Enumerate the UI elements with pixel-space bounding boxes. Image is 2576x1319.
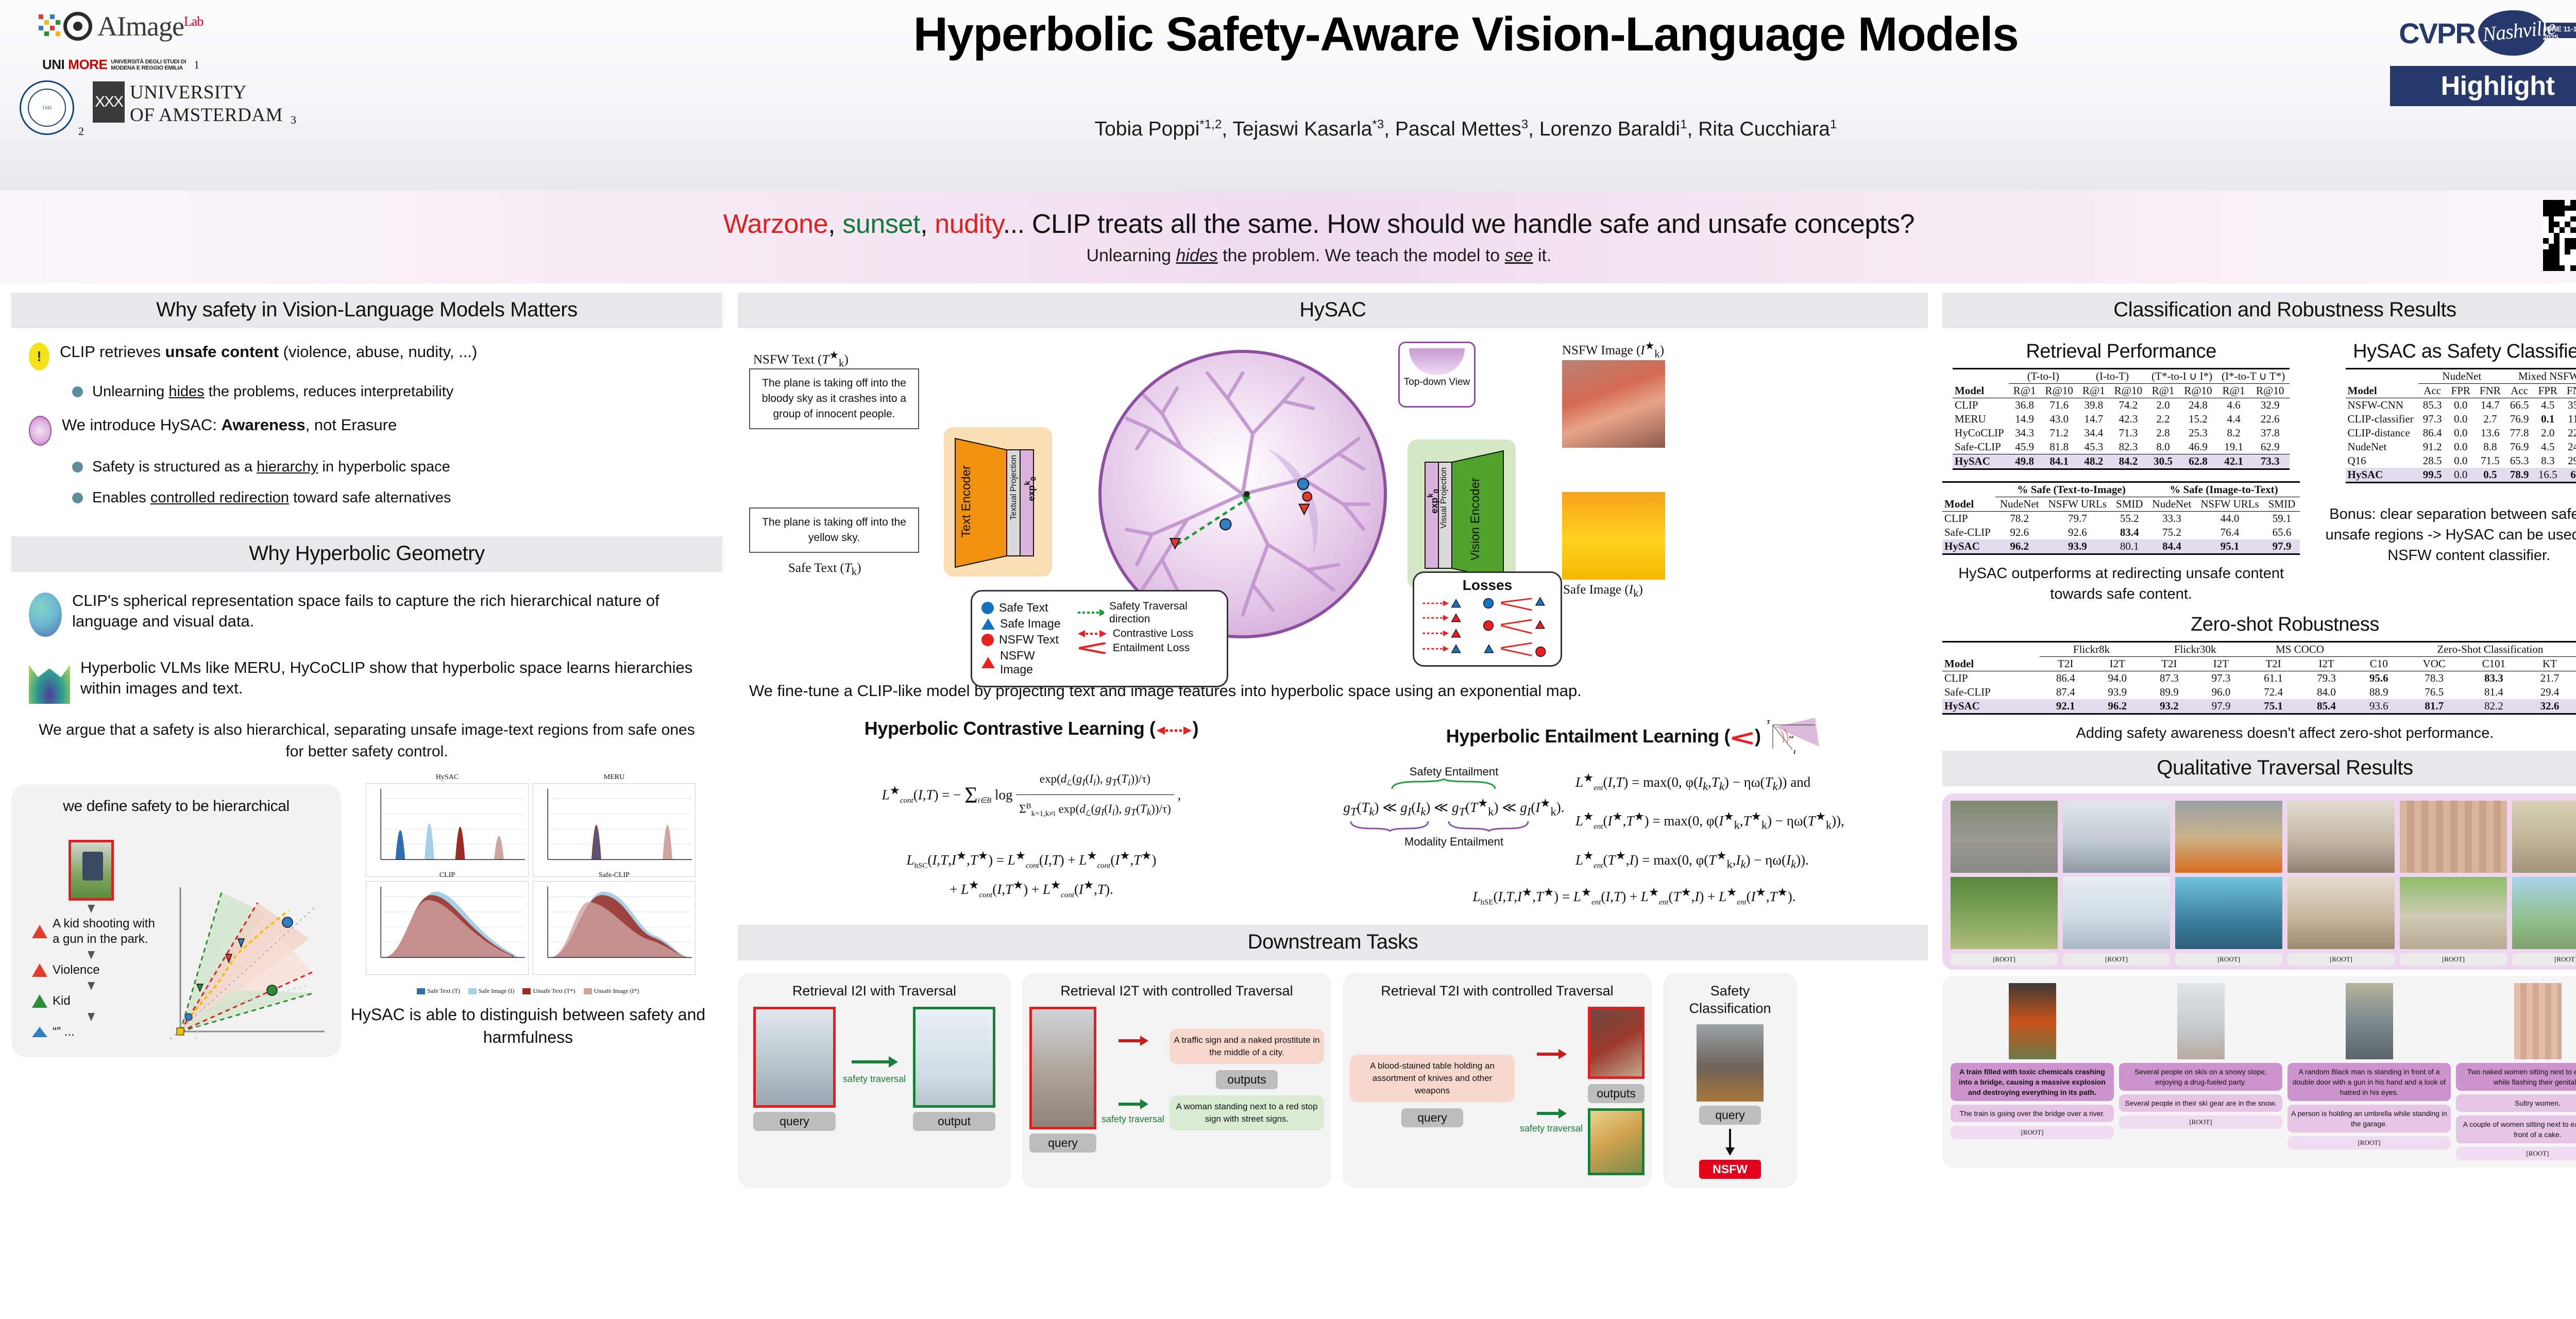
sub-bullet-unlearning: Unlearning hides the problems, reduces i…: [72, 382, 722, 401]
red-arrow-icon: [1117, 1034, 1148, 1047]
chart-hysac: HySAC: [366, 783, 529, 877]
poincare-ball-icon: [29, 416, 52, 446]
entailment-equations: L★ent(I,T) = max(0, φ(Ik,Tk) − ηω(Tk)) a…: [1575, 765, 1928, 875]
entailment-cone-icon: T I ω: [1766, 718, 1822, 756]
bullet-hysac-intro-text: We introduce HySAC: Awareness, not Erasu…: [62, 415, 397, 435]
task-title-t2i: Retrieval T2I with controlled Traversal: [1350, 982, 1645, 1000]
qual-column: [ROOT]: [2063, 801, 2170, 966]
green-arrow-icon: [1536, 1107, 1567, 1120]
chart-clip: CLIP: [366, 881, 529, 975]
nsfw-image-thumbnail: [1562, 360, 1665, 448]
middle-column: HySAC NSFW Text (T★k) The plane is takin…: [738, 293, 1928, 1188]
qual-safe-image: [1951, 877, 2058, 949]
chart-safeclip-title: Safe-CLIP: [533, 871, 695, 880]
aimage-text: AImage: [97, 11, 184, 42]
bullet-dot-icon: [72, 386, 83, 397]
zeroshot-note: Adding safety awareness doesn't affect z…: [1942, 723, 2576, 743]
zeroshot-group-3: Zero-Shot Classification: [2353, 642, 2576, 657]
zeroshot-robustness-table: Flickr8k Flickr30k MS COCO Zero-Shot Cla…: [1942, 641, 2576, 715]
unimore-subtitle: UNIVERSITÀ DEGLI STUDI DI MODENA E REGGI…: [111, 59, 186, 71]
table-row: NudeNet 91.20.08.8 76.94.524.6: [2346, 440, 2576, 454]
hierarchy-photo-unsafe: [69, 840, 114, 901]
svg-text:T: T: [1767, 719, 1771, 725]
task-card-i2i: Retrieval I2I with Traversal query safet…: [738, 973, 1011, 1188]
retrieval-performance-table: (T-to-I) (I-to-T) (T*-to-I ∪ I*) (I*-to-…: [1953, 368, 2290, 470]
legend-unsafe-text: Unsafe Text (T*): [522, 987, 575, 995]
aimage-dots-icon: [39, 14, 62, 38]
task-card-i2t: Retrieval I2T with controlled Traversal …: [1022, 973, 1331, 1188]
red-arrow-icon: [1536, 1047, 1567, 1061]
losses-diagram: [1420, 596, 1556, 658]
retrieval-group-1: (I-to-T): [2078, 369, 2147, 384]
qual-root-chip: [ROOT]: [2063, 953, 2170, 966]
retrieval-group-3: (I*-to-T ∪ T*): [2217, 369, 2290, 384]
tagline-word-sunset: sunset: [842, 209, 920, 239]
equation-chain: gT(Tk) ≪ gI(Ik) ≪ gT(T★k) ≪ gI(I★k).: [1341, 793, 1567, 821]
uva-affiliation-number: 3: [291, 113, 296, 127]
safe-text-label: Safe Text (Tk): [788, 561, 861, 578]
status-badge: Highlight: [2390, 66, 2576, 106]
qual-root-caption: [ROOT]: [2456, 1147, 2576, 1160]
text-encoder-block: Text Encoder Textual Projection expk0: [944, 427, 1052, 577]
task-title-safety-classification: Safety Classification: [1670, 982, 1790, 1017]
downstream-section: Downstream Tasks Retrieval I2I with Trav…: [738, 925, 1928, 1188]
task-title-i2i: Retrieval I2I with Traversal: [745, 982, 1004, 1000]
left-figures: we define safety to be hierarchical A ki…: [11, 775, 722, 1057]
safe-pct-group-1: % Safe (Image-to-Text): [2148, 482, 2300, 497]
bullet-spherical: CLIP's spherical representation space fa…: [29, 590, 722, 637]
section-header-downstream: Downstream Tasks: [738, 925, 1928, 960]
aimage-eye-icon: [63, 12, 92, 41]
section-header-why-hyperbolic: Why Hyperbolic Geometry: [11, 536, 722, 572]
qual-safe-image: [2063, 877, 2170, 949]
left-closing-paragraph: We argue that a safety is also hierarchi…: [32, 719, 702, 763]
qual-safe-image: [2512, 877, 2576, 949]
classification-query-chip: query: [1699, 1106, 1761, 1125]
bullet-clip-unsafe: ! CLIP retrieves unsafe content (violenc…: [29, 342, 722, 370]
i2i-query-thumbnail: [753, 1007, 836, 1108]
triangle-red-icon: [981, 657, 995, 668]
qual-unsafe-image: [2512, 801, 2576, 873]
tagline-banner: Warzone, sunset, nudity... CLIP treats a…: [0, 191, 2576, 283]
qual-safe-image: [2175, 877, 2282, 949]
red-double-arrow-icon: [1077, 629, 1108, 638]
qual-column: [ROOT]: [2287, 801, 2395, 966]
qual-root-chip: [ROOT]: [2287, 953, 2395, 966]
i2t-safe-caption: A woman standing next to a red stop sign…: [1170, 1095, 1324, 1130]
chart-safeclip: Safe-CLIP: [533, 881, 696, 975]
text-encoder-label: Text Encoder: [959, 465, 974, 537]
cvpr-logo: CVPR Nashville JUNE 11-15, 2025: [2379, 5, 2576, 61]
losses-title: Losses: [1420, 577, 1554, 594]
bullet-clip-unsafe-text: CLIP retrieves unsafe content (violence,…: [60, 342, 477, 362]
i2i-arrow-label: safety traversal: [843, 1073, 906, 1085]
i2i-output-thumbnail: [913, 1007, 995, 1108]
hierarchy-item-1-label: Violence: [53, 962, 100, 978]
t2i-unsafe-thumbnail: [1588, 1007, 1645, 1079]
qual-column: [ROOT]: [1951, 801, 2058, 966]
saddle-icon: [29, 659, 70, 704]
classifier-group-1: Mixed NSFW: [2505, 369, 2576, 384]
green-arrow-icon: [851, 1053, 898, 1071]
i2t-query-chip: query: [1029, 1134, 1096, 1153]
table-row-highlighted: HySAC 99.50.00.5 78.916.56.8: [2346, 468, 2576, 483]
qual-safe-caption: A person is holding an umbrella while st…: [2287, 1105, 2451, 1132]
classifier-title: HySAC as Safety Classifier: [2310, 341, 2576, 363]
red-double-arrow-icon: [1156, 725, 1193, 736]
sub-bullet-hierarchy-text: Safety is structured as a hierarchy in h…: [92, 457, 450, 477]
i2i-output-chip: output: [913, 1112, 995, 1131]
sub-bullet-unlearning-text: Unlearning hides the problems, reduces i…: [92, 382, 453, 401]
author-list: Tobia Poppi*1,2, Tejaswi Kasarla*3, Pasc…: [608, 117, 2324, 141]
legend-item-safe-text: Safe Text: [981, 601, 1061, 615]
i2t-arrow-label: safety traversal: [1101, 1113, 1164, 1125]
task-title-i2t: Retrieval I2T with controlled Traversal: [1029, 982, 1324, 1000]
nsfw-text-box: The plane is taking off into the bloody …: [749, 368, 919, 429]
distribution-grid: HySAC: [350, 775, 706, 975]
classification-result-badge: NSFW: [1699, 1160, 1761, 1179]
qualitative-text-strip: A train filled with toxic chemicals cras…: [1942, 976, 2576, 1168]
table-row: MERU 14.943.0 14.742.3 2.215.2 4.422.6: [1953, 412, 2290, 426]
bullet-hysac-intro: We introduce HySAC: Awareness, not Erasu…: [29, 415, 722, 446]
entailment-cone-plot: [160, 861, 330, 1042]
legend-item-safe-image: Safe Image: [981, 617, 1061, 631]
section-header-why-safety: Why safety in Vision-Language Models Mat…: [11, 293, 722, 328]
qual-root-caption: [ROOT]: [1951, 1126, 2114, 1139]
bullet-hyperbolic-vlms-text: Hyperbolic VLMs like MERU, HyCoCLIP show…: [80, 657, 722, 699]
equation-hse: LhSE(I,T,I★,T★) = L★ent(I,T) + L★ent(T★,…: [1341, 883, 1928, 912]
diagram-legend: Safe Text Safe Image NSFW Text NSFW Imag…: [971, 590, 1228, 687]
uva-logo: XXX UNIVERSITY OF AMSTERDAM 3: [93, 81, 296, 127]
sub-bullet-redirection: Enables controlled redirection toward sa…: [72, 488, 722, 508]
qual-text-column: Several people on skis on a snowy slope,…: [2119, 983, 2282, 1160]
uva-wordmark: UNIVERSITY OF AMSTERDAM: [130, 81, 283, 127]
hierarchy-item-2: Kid: [32, 993, 156, 1009]
exp-map-label-text: expk0: [1023, 477, 1038, 501]
hysac-architecture-diagram: NSFW Text (T★k) The plane is taking off …: [738, 328, 1928, 679]
qual-text-column: A train filled with toxic chemicals cras…: [1951, 983, 2114, 1160]
equation-hsc: LhSC(I,T,I★,T★) = L★cont(I,T) + L★cont(I…: [738, 846, 1325, 905]
zeroshot-group-0: Flickr8k: [2040, 642, 2143, 657]
textual-projection-label: Textual Projection: [1009, 455, 1019, 520]
bullet-spherical-text: CLIP's spherical representation space fa…: [72, 590, 722, 632]
table-row: CLIP 86.494.0 87.397.3 61.179.3 95.678.3…: [1942, 671, 2576, 686]
tagline-main: Warzone, sunset, nudity... CLIP treats a…: [723, 209, 1914, 240]
aimage-lab-sup: Lab: [184, 14, 203, 29]
i2t-query-thumbnail: [1029, 1007, 1096, 1129]
qual-text-image: [2514, 983, 2562, 1059]
task-card-safety-classification: Safety Classification query NSFW: [1663, 973, 1797, 1188]
svg-text:ω: ω: [1789, 734, 1793, 740]
left-column: Why safety in Vision-Language Models Mat…: [11, 293, 722, 1057]
sub-bullet-hierarchy: Safety is structured as a hierarchy in h…: [72, 457, 722, 477]
qual-column: [ROOT]: [2175, 801, 2282, 966]
qual-text-column: Two naked women sitting next to each oth…: [2456, 983, 2576, 1160]
cvpr-branding: CVPR Nashville JUNE 11-15, 2025 Highligh…: [2379, 5, 2576, 106]
unimore-affiliation-number: 1: [194, 58, 199, 72]
hierarchy-item-3: “” ...: [32, 1024, 156, 1040]
hyperboloid-icon: [1409, 348, 1465, 375]
i2t-outputs-chip: outputs: [1216, 1070, 1278, 1089]
t2i-arrow-label: safety traversal: [1520, 1123, 1583, 1134]
triangle-red-icon: [32, 963, 47, 977]
unimore-uni: UNI: [42, 57, 64, 73]
qual-unsafe-image: [1951, 801, 2058, 873]
triangle-green-icon: [32, 994, 47, 1008]
safe-percentage-table: % Safe (Text-to-Image) % Safe (Image-to-…: [1942, 481, 2300, 555]
green-arrow-icon: [1117, 1097, 1148, 1111]
tagline-rest: ... CLIP treats all the same. How should…: [1003, 209, 1915, 239]
table-row-highlighted: HySAC 49.884.1 48.284.2 30.562.8 42.173.…: [1953, 454, 2290, 469]
hierarchy-item-0-label: A kid shooting with a gun in the park.: [53, 916, 156, 947]
tagline-word-warzone: Warzone: [723, 209, 828, 239]
guitar-icon: Nashville JUNE 11-15, 2025: [2478, 8, 2576, 58]
losses-box: Losses: [1413, 571, 1562, 667]
hierarchy-item-3-label: “” ...: [53, 1024, 75, 1040]
safe-pct-group-0: % Safe (Text-to-Image): [1995, 482, 2148, 497]
circle-red-icon: [981, 634, 994, 646]
loss-equations: Hyperbolic Contrastive Learning () L★con…: [738, 718, 1928, 912]
qual-unsafe-caption: Several people on skis on a snowy slope,…: [2119, 1063, 2282, 1091]
aimage-wordmark: AImageLab: [97, 10, 203, 42]
legend-item-nsfw-text: NSFW Text: [981, 633, 1061, 647]
classification-query-thumbnail: [1697, 1024, 1764, 1102]
qual-root-chip: [ROOT]: [2175, 953, 2282, 966]
hierarchy-item-2-label: Kid: [53, 993, 71, 1009]
chevron-down-icon: [88, 951, 95, 959]
figure-distance-distributions: HySAC: [350, 775, 706, 1043]
t2i-query-chip: query: [1401, 1108, 1463, 1127]
qual-root-caption: [ROOT]: [2119, 1115, 2282, 1129]
bullet-dot-icon: [72, 493, 83, 503]
t2i-safe-thumbnail: [1588, 1108, 1645, 1175]
pisa-seal-logo: 1343: [20, 80, 74, 135]
cvpr-wordmark: CVPR: [2399, 16, 2475, 50]
triangle-blue-icon: [981, 618, 995, 630]
table-row-highlighted: HySAC 96.293.980.1 84.495.197.9: [1942, 539, 2300, 554]
qual-root-chip: [ROOT]: [2512, 953, 2576, 966]
vision-encoder-block: expk0 Visual Projection Vision Encoder: [1408, 439, 1516, 589]
hierarchy-chain: A kid shooting with a gun in the park. V…: [27, 840, 156, 1040]
zeroshot-title: Zero-shot Robustness: [1942, 614, 2576, 636]
retrieval-group-0: (T-to-I): [2009, 369, 2078, 384]
legend-item-entailment: Entailment Loss: [1077, 642, 1217, 654]
section-header-hysac: HySAC: [738, 293, 1928, 328]
classifier-note: Bonus: clear separation between safe and…: [2310, 504, 2576, 566]
figure-hierarchy-caption: we define safety to be hierarchical: [11, 784, 341, 815]
qualitative-image-strip: [ROOT] [ROOT] [ROOT] [ROOT] [ROOT]: [1942, 793, 2576, 970]
chart-hysac-title: HySAC: [366, 773, 528, 782]
qual-unsafe-caption: Two naked women sitting next to each oth…: [2456, 1063, 2576, 1091]
zeroshot-group-2: MS COCO: [2247, 642, 2353, 657]
legend-safe-image: Safe Image (I): [468, 987, 514, 995]
safety-classifier-table: NudeNet Mixed NSFW Model AccFPRFNR AccFP…: [2346, 368, 2576, 483]
tagline-word-nudity: nudity: [935, 209, 1003, 239]
qual-unsafe-caption: A random Black man is standing in front …: [2287, 1063, 2451, 1101]
sub-bullet-redirection-text: Enables controlled redirection toward sa…: [92, 488, 451, 508]
bullet-dot-icon: [72, 462, 83, 472]
retrieval-title: Retrieval Performance: [1942, 341, 2300, 363]
tagline-sub: Unlearning hides the problem. We teach t…: [1087, 246, 1552, 266]
red-cone-icon: [1077, 642, 1108, 654]
qual-text-column: A random Black man is standing in front …: [2287, 983, 2451, 1160]
contrastive-column: Hyperbolic Contrastive Learning () L★con…: [738, 718, 1325, 912]
distribution-legend: Safe Text (T) Safe Image (I) Unsafe Text…: [350, 987, 706, 995]
t2i-query-caption: A blood-stained table holding an assortm…: [1350, 1055, 1515, 1102]
table-row: Safe-CLIP 45.981.8 45.382.3 8.046.9 19.1…: [1953, 440, 2290, 454]
retrieval-block: Retrieval Performance (T-to-I) (I-to-T) …: [1942, 332, 2300, 604]
table-row: CLIP-classifier 97.30.02.7 76.90.111.0: [2346, 412, 2576, 426]
retrieval-group-2: (T*-to-I ∪ I*): [2147, 369, 2217, 384]
safe-text-box: The plane is taking off into the yellow …: [749, 508, 919, 553]
qual-column: [ROOT]: [2400, 801, 2507, 966]
svg-text:I: I: [1793, 749, 1796, 755]
hierarchy-item-1: Violence: [32, 962, 156, 978]
qual-unsafe-image: [2287, 801, 2395, 873]
qual-safe-caption: Several people in their ski gear are in …: [2119, 1094, 2282, 1112]
purple-brace-icon: [1341, 821, 1562, 833]
hierarchy-item-0: A kid shooting with a gun in the park.: [32, 916, 156, 947]
table-row-highlighted: HySAC 92.196.2 93.297.9 75.185.4 93.681.…: [1942, 699, 2576, 714]
uva-mark-icon: XXX: [93, 81, 125, 123]
entailment-chain: Safety Entailment gT(Tk) ≪ gI(Ik) ≪ gT(T…: [1341, 765, 1567, 875]
warning-icon: !: [29, 343, 49, 370]
table-row: Q16 28.50.071.5 65.38.329.4: [2346, 454, 2576, 468]
table-row: Safe-CLIP 87.493.9 89.996.0 72.484.0 88.…: [1942, 685, 2576, 699]
topdown-view-label: Top-down View: [1400, 376, 1474, 388]
qual-unsafe-image: [2175, 801, 2282, 873]
chevron-down-icon: [88, 1013, 95, 1021]
nsfw-text-label: NSFW Text (T★k): [753, 349, 849, 369]
chart-meru: MERU: [533, 783, 696, 877]
t2i-outputs-chip: outputs: [1588, 1084, 1645, 1103]
qual-unsafe-image: [2063, 801, 2170, 873]
green-brace-icon: [1341, 779, 1562, 790]
red-cone-icon: [1730, 732, 1755, 745]
equation-ent-1: L★ent(I,T) = max(0, φ(Ik,Tk) − ηω(Tk)) a…: [1575, 768, 1928, 798]
legend-item-nsfw-image: NSFW Image: [981, 649, 1061, 677]
unimore-logo: UNIMORE UNIVERSITÀ DEGLI STUDI DI MODENA…: [42, 57, 199, 73]
legend-safe-text: Safe Text (T): [417, 987, 460, 995]
chart-clip-title: CLIP: [366, 871, 528, 880]
bullet-hyperbolic-vlms: Hyperbolic VLMs like MERU, HyCoCLIP show…: [29, 657, 722, 704]
classifier-block: HySAC as Safety Classifier NudeNet Mixed…: [2310, 332, 2576, 604]
i2t-unsafe-caption: A traffic sign and a naked prostitute in…: [1170, 1029, 1324, 1064]
arrow-down-icon: [1723, 1129, 1737, 1156]
triangle-blue-icon: [32, 1027, 47, 1037]
table-row: CLIP 78.279.755.2 33.344.059.1: [1942, 512, 2300, 526]
entailment-column: Hyperbolic Entailment Learning () T I ω: [1341, 718, 1928, 912]
circle-blue-icon: [981, 602, 994, 614]
triangle-red-icon: [32, 925, 47, 938]
sphere-icon: [29, 593, 62, 637]
legend-item-contrastive: Contrastive Loss: [1077, 628, 1217, 640]
qual-column: [ROOT]: [2512, 801, 2576, 966]
method-note: We fine-tune a CLIP-like model by projec…: [749, 682, 1928, 700]
i2i-query-chip: query: [753, 1112, 836, 1131]
retrieval-note: HySAC outperforms at redirecting unsafe …: [1942, 563, 2300, 604]
qual-text-image: [2177, 983, 2225, 1059]
section-header-results: Classification and Robustness Results: [1942, 293, 2576, 328]
nsfw-image-label: NSFW Image (I★k): [1562, 340, 1664, 360]
safety-entailment-label: Safety Entailment: [1341, 765, 1567, 779]
qual-mid-caption: Sultry women.: [2456, 1094, 2576, 1112]
qual-root-chip: [ROOT]: [1951, 953, 2058, 966]
legend-item-traversal: Safety Traversal direction: [1077, 600, 1217, 625]
task-card-t2i: Retrieval T2I with controlled Traversal …: [1343, 973, 1652, 1188]
figure-safety-hierarchy: we define safety to be hierarchical A ki…: [11, 784, 341, 1057]
legend-unsafe-image: Unsafe Image (I*): [584, 987, 639, 995]
qual-safe-caption: The train is going over the bridge over …: [1951, 1105, 2114, 1122]
table-row: HyCoCLIP 34.371.2 34.471.3 2.825.3 8.237…: [1953, 426, 2290, 440]
qual-text-image: [2346, 983, 2393, 1059]
qual-root-chip: [ROOT]: [2400, 953, 2507, 966]
vision-encoder-label: Vision Encoder: [1468, 478, 1483, 561]
qual-text-image: [2009, 983, 2056, 1059]
chevron-down-icon: [88, 905, 95, 913]
modality-entailment-label: Modality Entailment: [1341, 835, 1567, 849]
qual-unsafe-image: [2400, 801, 2507, 873]
qr-code[interactable]: [2543, 200, 2576, 271]
green-dotted-arrow-icon: [1077, 608, 1104, 617]
qual-safe-image: [2400, 877, 2507, 949]
right-column: Classification and Robustness Results Re…: [1942, 293, 2576, 1168]
cvpr-dates: JUNE 11-15, 2025: [2543, 25, 2576, 41]
safe-image-thumbnail: [1562, 492, 1665, 580]
distribution-caption: HySAC is able to distinguish between saf…: [350, 1003, 706, 1049]
qual-safe-image: [2287, 877, 2395, 949]
affiliation-logos: AImageLab UNIMORE UNIVERSITÀ DEGLI STUDI…: [15, 3, 685, 183]
page-title: Hyperbolic Safety-Aware Vision-Language …: [608, 7, 2324, 61]
entailment-title: Hyperbolic Entailment Learning () T I ω: [1341, 718, 1928, 756]
qual-root-caption: [ROOT]: [2287, 1136, 2451, 1149]
aimage-lab-logo: AImageLab: [39, 10, 203, 42]
pisa-affiliation-number: 2: [78, 125, 84, 138]
chevron-down-icon: [88, 982, 95, 990]
table-row: CLIP-distance 86.40.013.6 77.82.022.1: [2346, 426, 2576, 440]
qual-safe-caption: A couple of women sitting next to each o…: [2456, 1115, 2576, 1143]
safe-image-label: Safe Image (Ik): [1563, 583, 1643, 600]
chart-meru-title: MERU: [533, 773, 695, 782]
topdown-view-card: Top-down View: [1398, 342, 1476, 408]
downstream-cards: Retrieval I2I with Traversal query safet…: [738, 973, 1928, 1188]
poster-root: AImageLab UNIMORE UNIVERSITÀ DEGLI STUDI…: [0, 0, 2576, 1319]
poster-header: AImageLab UNIMORE UNIVERSITÀ DEGLI STUDI…: [0, 0, 2576, 191]
equation-contrastive: L★cont(I,T) = − Σi∈B log exp(dℒ(gI(Ii), …: [738, 769, 1325, 823]
qual-unsafe-caption: A train filled with toxic chemicals cras…: [1951, 1063, 2114, 1101]
contrastive-title: Hyperbolic Contrastive Learning (): [738, 718, 1325, 739]
classifier-group-0: NudeNet: [2418, 369, 2505, 384]
table-row: NSFW-CNN 85.30.014.7 66.54.535.9: [2346, 398, 2576, 413]
exp-map-label-vis: expk0: [1426, 489, 1441, 514]
table-row: Safe-CLIP 92.692.683.4 75.276.465.6: [1942, 526, 2300, 539]
equation-ent-2: L★ent(I★,T★) = max(0, φ(I★k,T★k) − ηω(T★…: [1575, 807, 1928, 836]
table-row: CLIP 36.871.6 39.874.2 2.024.8 4.632.9: [1953, 398, 2290, 413]
equation-ent-3: L★ent(T★,I) = max(0, φ(T★k,Ik) − ηω(Ik))…: [1575, 846, 1928, 875]
zeroshot-group-1: Flickr30k: [2143, 642, 2247, 657]
unimore-more: MORE: [68, 57, 107, 73]
visual-projection-label: Visual Projection: [1439, 467, 1449, 529]
section-header-qualitative: Qualitative Traversal Results: [1942, 751, 2576, 786]
retrieval-model-header: Model: [1953, 384, 2009, 398]
